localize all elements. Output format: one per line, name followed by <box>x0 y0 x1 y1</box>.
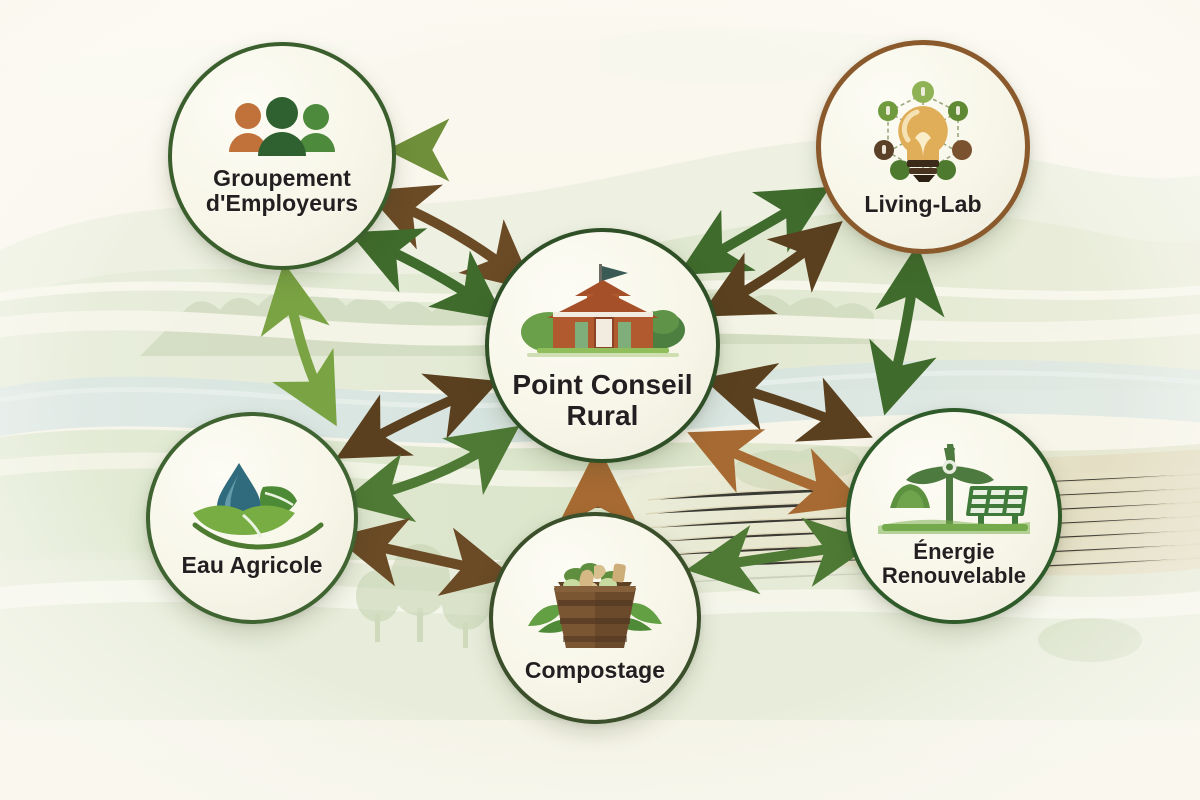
node-groupement-d-employeurs[interactable]: Groupement d'Employeurs <box>168 42 396 270</box>
lightbulb-network-icon <box>862 78 984 188</box>
compost-bin-icon <box>520 554 670 656</box>
node-label: Living-Lab <box>858 192 987 217</box>
link-groupement-center <box>378 196 524 282</box>
link-center-energie-2 <box>700 438 852 500</box>
node-label: Énergie Renouvelable <box>876 540 1032 588</box>
link-groupement-eau <box>286 276 330 414</box>
link-compostage-energie <box>700 544 862 568</box>
link-eau-center <box>348 386 486 452</box>
link-eau-compostage <box>348 540 500 574</box>
town-hall-icon <box>513 260 693 364</box>
link-center-energie <box>716 382 860 432</box>
wind-turbine-solar-icon <box>878 444 1030 540</box>
node-eau-agricole[interactable]: Eau Agricole <box>146 412 358 624</box>
node-label: Point Conseil Rural <box>506 370 698 430</box>
node-living-lab[interactable]: Living-Lab <box>816 40 1030 254</box>
node-point-conseil-rural[interactable]: Point Conseil Rural <box>485 228 720 463</box>
water-drop-leaf-icon <box>177 459 327 551</box>
node-label: Eau Agricole <box>176 553 329 578</box>
node-label: Compostage <box>519 658 671 683</box>
node-compostage[interactable]: Compostage <box>489 512 701 724</box>
node-label: Groupement d'Employeurs <box>200 166 364 216</box>
link-eau-center-2 <box>354 434 508 500</box>
diagram-canvas: Groupement d'Employeurs <box>0 0 1200 800</box>
node-energie-renouvelable[interactable]: Énergie Renouvelable <box>846 408 1062 624</box>
link-energie-livinglab <box>888 258 916 402</box>
people-group-icon <box>222 96 342 162</box>
